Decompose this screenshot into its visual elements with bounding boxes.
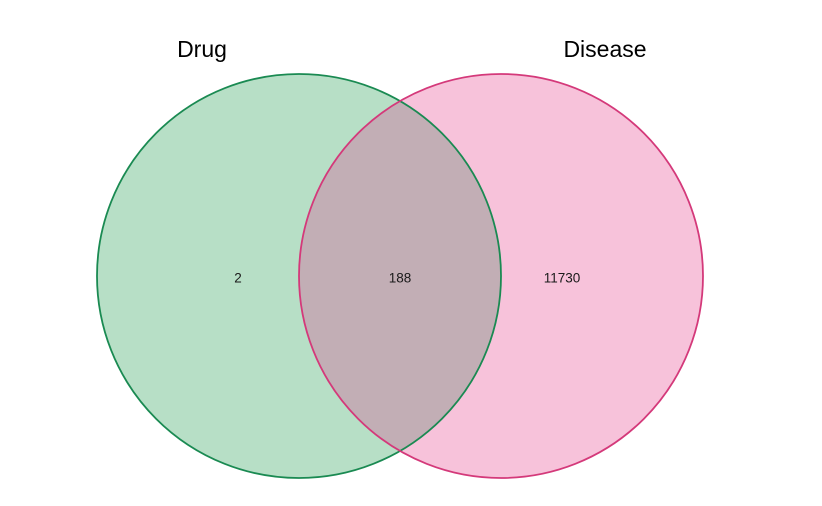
drug-disease-intersection-count: 188 xyxy=(389,271,412,286)
disease-only-count: 11730 xyxy=(544,271,581,286)
disease-set-label: Disease xyxy=(563,36,646,62)
venn-diagram-canvas: Drug Disease 2 188 11730 xyxy=(0,0,822,506)
drug-set-label: Drug xyxy=(177,36,227,62)
venn-diagram-figure: Drug Disease 2 188 11730 xyxy=(0,0,822,506)
drug-only-count: 2 xyxy=(234,271,242,286)
